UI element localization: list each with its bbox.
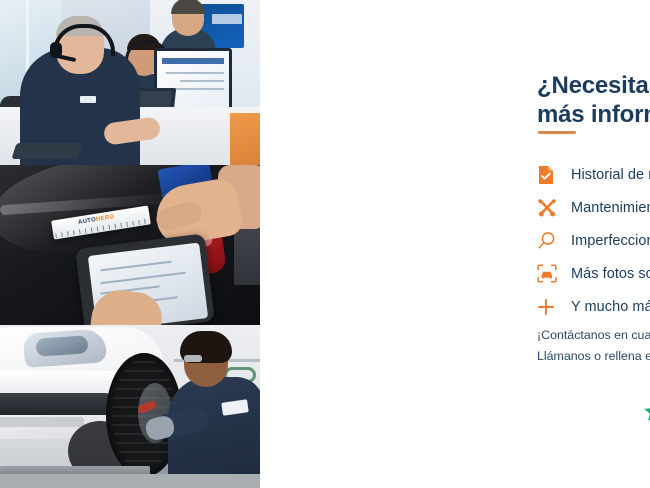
photo3-lower-trim	[0, 417, 84, 427]
contact-text: ¡Contáctanos en cualquier momento para m…	[537, 325, 650, 368]
feature-label: Y mucho más	[571, 299, 650, 315]
photo1-screen-row	[166, 72, 224, 74]
photo1-agent-1-name-badge	[80, 96, 96, 103]
feature-item-mucho-mas: Y mucho más	[537, 290, 650, 323]
feature-label: Historial de mantenimientos	[571, 167, 650, 183]
photo1-screen-header	[162, 58, 224, 64]
photo-column: AUTOHERO	[0, 0, 260, 488]
car-viewfinder-icon	[537, 264, 571, 283]
feature-label: Mantenimiento realizado	[571, 200, 650, 216]
trustpilot-widget[interactable]: Excelente Trustpilot	[643, 388, 650, 446]
photo3-grille	[0, 393, 110, 415]
trustpilot-star-icon	[643, 400, 650, 423]
feature-label: Más fotos sobre el coche	[571, 266, 650, 282]
photo3-floor	[0, 474, 260, 488]
contact-line-2: Llámanos o rellena el formulario de cont…	[537, 346, 650, 367]
feature-item-imperfecciones: Imperfecciones	[537, 224, 650, 257]
tools-cross-icon	[537, 198, 571, 218]
photo3-safety-glasses	[184, 355, 202, 362]
photo3-headlight-inner	[35, 335, 88, 357]
page-title-line-1: ¿Necesitas	[537, 72, 650, 99]
contact-line-1: ¡Contáctanos en cualquier momento para m…	[537, 325, 650, 346]
information-banner: AUTOHERO	[0, 0, 650, 488]
feature-list: Historial de mantenimientos Mantenimient…	[537, 158, 650, 323]
title-divider	[538, 131, 576, 134]
photo1-screen-row	[180, 80, 224, 82]
feature-item-mantenimiento: Mantenimiento realizado	[537, 191, 650, 224]
feature-item-mas-fotos: Más fotos sobre el coche	[537, 257, 650, 290]
feature-item-historial: Historial de mantenimientos	[537, 158, 650, 191]
photo1-poster-text	[212, 14, 242, 24]
vehicle-inspection-photo: AUTOHERO	[0, 165, 260, 325]
photo1-agent-3-hair	[171, 0, 205, 14]
page-title: ¿Necesitas más información?	[537, 71, 650, 130]
call-center-agents-photo	[0, 0, 260, 165]
plus-icon	[537, 298, 571, 316]
photo1-orange-object	[230, 113, 260, 165]
content-panel: ¿Necesitas más información? Estamos enca…	[260, 0, 650, 488]
photo1-desk-tablet	[11, 143, 82, 159]
feature-label: Imperfecciones	[571, 233, 650, 249]
mechanic-wheel-photo	[0, 325, 260, 488]
trustpilot-logo: Trustpilot	[643, 400, 650, 423]
photo1-screen-row	[172, 88, 224, 90]
document-check-icon	[537, 165, 571, 185]
page-title-line-2: más información?	[537, 100, 650, 129]
magnifier-icon	[537, 231, 571, 250]
